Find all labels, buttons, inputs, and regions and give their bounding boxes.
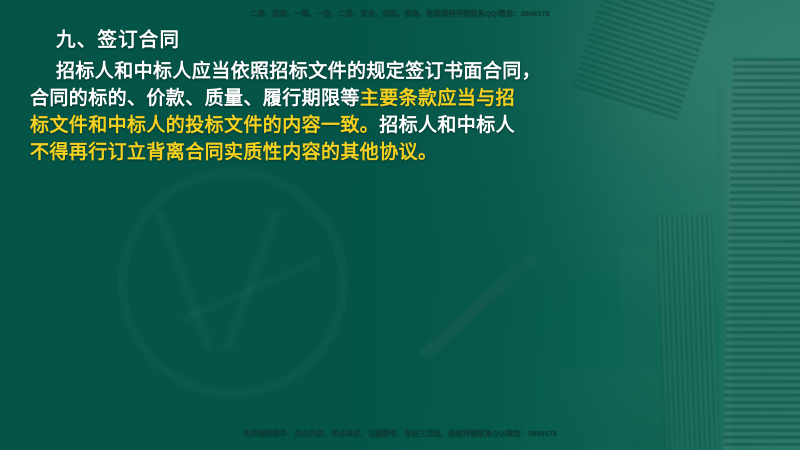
body-line-3-segment-1: 标文件和中标人的投标文件的内容一致。 <box>30 115 379 136</box>
body-line-4-segment-1: 不得再行订立背离合同实质性内容的其他协议。 <box>30 142 437 163</box>
body-line-2: 合同的标的、价款、质量、履行期限等主要条款应当与招 <box>30 85 590 112</box>
top-promo-banner: 二建、监理、一建、一造、二造、安全、消防、咨询、检测课程押题联系QQ/微信：38… <box>0 9 800 19</box>
body-line-4: 不得再行订立背离合同实质性内容的其他协议。 <box>30 139 590 166</box>
body-line-2-segment-1: 合同的标的、价款、质量、履行期限等 <box>30 88 360 109</box>
presentation-slide: 二建、监理、一建、一造、二造、安全、消防、咨询、检测课程押题联系QQ/微信：38… <box>0 0 800 450</box>
logo-watermark-icon <box>118 168 348 398</box>
slide-content: 九、签订合同 招标人和中标人应当依照招标文件的规定签订书面合同， 合同的标的、价… <box>0 28 800 166</box>
bottom-promo-banner: 名师面授精华、央企内讲、考点串讲、习题模考、考前三页纸、绝密押题联系QQ/微信：… <box>0 429 800 439</box>
body-line-3-segment-2: 招标人和中标人 <box>379 115 515 136</box>
body-line-1: 招标人和中标人应当依照招标文件的规定签订书面合同， <box>30 58 590 85</box>
skyscraper-mid <box>656 214 720 450</box>
page-title: 九、签订合同 <box>0 28 800 52</box>
watermark-stroke <box>181 256 321 323</box>
body-paragraph: 招标人和中标人应当依照招标文件的规定签订书面合同， 合同的标的、价款、质量、履行… <box>0 58 590 166</box>
skyscraper-mid-back <box>619 246 670 450</box>
body-line-1-segment-1: 招标人和中标人应当依照招标文件的规定签订书面合同， <box>56 61 541 82</box>
watermark-diagonal-text <box>419 251 539 360</box>
body-line-2-segment-2: 主要条款应当与招 <box>360 88 515 109</box>
body-line-3: 标文件和中标人的投标文件的内容一致。招标人和中标人 <box>30 112 590 139</box>
